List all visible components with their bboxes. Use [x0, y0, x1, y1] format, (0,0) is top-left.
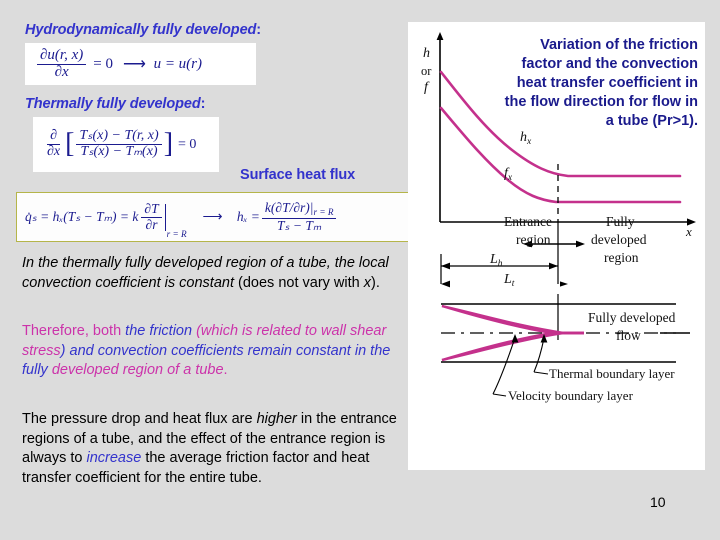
label-velocity-boundary-layer: Velocity boundary layer	[508, 388, 633, 404]
equation-3-rhs-lhs: hₓ =	[237, 209, 260, 225]
equation-3-rhs-den: Tₛ − Tₘ	[274, 219, 324, 233]
curve-h-x	[441, 72, 680, 176]
curve-f-x	[441, 108, 680, 202]
equation-3-dT: ∂T	[141, 202, 161, 217]
y-axis-label-or: or	[421, 64, 431, 79]
heading-2-colon: :	[201, 96, 206, 112]
equation-2-frac-num: Tₛ(x) − T(r, x)	[76, 129, 161, 145]
curve-label-hx: hx	[520, 130, 531, 147]
equation-surface-heat-flux-box: q̇ₛ = hₓ(Tₛ − Tₘ) = k ∂T ∂r r = R ⟶ hₓ =…	[16, 192, 449, 242]
label-Lt: Lt	[504, 272, 514, 289]
label-fully-developed-flow-line-2: flow	[616, 328, 641, 344]
heading-1-colon: :	[256, 22, 261, 38]
Lt-arrow-left-icon	[441, 281, 450, 288]
velocity-bl-arrow-icon	[512, 334, 519, 343]
label-entrance-line-2: region	[516, 232, 551, 248]
y-axis-arrow-icon	[437, 32, 444, 40]
label-Lh-base: L	[490, 252, 498, 267]
equation-1-arrow-icon: ⟶	[123, 54, 144, 74]
label-Lt-base: L	[504, 272, 512, 287]
velocity-bl-leader-tail	[493, 394, 506, 396]
paragraph-2-s6: developed region of a tube	[48, 362, 224, 378]
paragraph-pressure-drop-entrance: The pressure drop and heat flux are high…	[22, 410, 402, 488]
equation-2-right-bracket: ]	[164, 133, 173, 156]
paragraph-2-s4: ) and convection	[61, 343, 167, 359]
equation-2-frac-den: Tₛ(x) − Tₘ(x)	[78, 145, 161, 160]
equation-3-rhs-num-sub: r = R	[313, 207, 333, 217]
y-axis-label-f: f	[424, 80, 428, 96]
x-axis-label: x	[686, 224, 692, 240]
paragraph-1-part-2: (does not vary with	[234, 275, 364, 291]
heading-surface-heat-flux: Surface heat flux	[240, 167, 355, 183]
y-axis-label-h: h	[423, 46, 430, 62]
equation-hydrodynamic-box: ∂u(r, x) ∂x = 0 ⟶ u = u(r)	[25, 43, 256, 85]
equation-1-denominator: ∂x	[52, 65, 72, 81]
Lh-arrow-right-icon	[549, 263, 558, 270]
equation-2-denominator: ∂x	[44, 145, 63, 160]
paragraph-2-s1: Therefore, both	[22, 323, 125, 339]
heading-2-text: Thermally fully developed	[25, 96, 201, 112]
paragraph-2-s2: the friction	[125, 323, 192, 339]
curve-label-hx-base: h	[520, 130, 527, 145]
equation-2-outer-derivative: ∂ ∂x	[44, 129, 63, 159]
equation-2-numerator: ∂	[47, 129, 60, 145]
paragraph-friction-convection-constant: Therefore, both the friction (which is r…	[22, 322, 400, 381]
label-fully-line-1: Fully	[606, 214, 635, 230]
equation-3-arrow-icon: ⟶	[203, 209, 221, 226]
heading-1-text: Hydrodynamically fully developed	[25, 22, 256, 38]
equation-3-eval-bar-icon	[165, 204, 166, 231]
label-fully-developed-flow-line-1: Fully developed	[588, 310, 675, 326]
equation-2-left-bracket: [	[65, 133, 74, 156]
bl-upper-thermal	[442, 306, 584, 333]
Lt-arrow-right-icon	[560, 281, 568, 286]
label-Lh: Lh	[490, 252, 503, 269]
label-fully-line-3: region	[604, 250, 639, 266]
label-Lt-sub: t	[512, 279, 515, 289]
slide-root: Hydrodynamically fully developed: ∂u(r, …	[0, 0, 720, 540]
curve-label-fx-sub: x	[508, 173, 512, 183]
figure-panel: Variation of the friction factor and the…	[408, 22, 705, 470]
paragraph-2-s7: .	[224, 362, 228, 378]
equation-3-rhs-num-wrap: k(∂T/∂r)|r = R	[262, 201, 337, 218]
page-number: 10	[650, 494, 666, 510]
region-arrow-right-icon	[576, 241, 585, 248]
equation-3-rhs-fraction: k(∂T/∂r)|r = R Tₛ − Tₘ	[262, 201, 337, 233]
label-entrance-line-1: Entrance	[504, 214, 552, 230]
paragraph-1-part-3: x	[364, 275, 371, 291]
label-thermal-boundary-layer: Thermal boundary layer	[549, 366, 675, 382]
paragraph-3-p1: The pressure drop and heat flux are	[22, 411, 257, 427]
equation-1-numerator: ∂u(r, x)	[37, 48, 86, 65]
paragraph-1-part-4: ).	[371, 275, 380, 291]
equation-1-equals: = 0	[93, 56, 113, 73]
equation-3-dT-dr: ∂T ∂r	[141, 202, 161, 231]
equation-3-lhs: q̇ₛ = hₓ(Tₛ − Tₘ) = k	[25, 209, 138, 225]
label-Lh-sub: h	[498, 259, 503, 269]
label-fully-line-2: developed	[591, 232, 646, 248]
heading-hydrodynamically-fully-developed: Hydrodynamically fully developed:	[25, 22, 261, 38]
heading-3-text: Surface heat flux	[240, 167, 355, 183]
equation-3-rhs-num: k(∂T/∂r)|	[265, 200, 314, 215]
equation-3-eval-at: r = R	[167, 229, 187, 239]
equation-1-fraction: ∂u(r, x) ∂x	[37, 48, 86, 81]
thermal-bl-leader-line	[534, 338, 544, 372]
paragraph-3-p4: increase	[86, 450, 141, 466]
equation-thermal-box: ∂ ∂x [ Tₛ(x) − T(r, x) Tₛ(x) − Tₘ(x) ] =…	[33, 117, 219, 172]
equation-2-equals: = 0	[178, 137, 196, 153]
equation-2-inner-fraction: Tₛ(x) − T(r, x) Tₛ(x) − Tₘ(x)	[76, 129, 161, 159]
paragraph-fully-developed-region: In the thermally fully developed region …	[22, 254, 404, 293]
equation-3-dr: ∂r	[143, 218, 161, 232]
thermal-bl-leader-tail	[534, 372, 548, 374]
heading-thermally-fully-developed: Thermally fully developed:	[25, 96, 205, 112]
equation-1-result: u = u(r)	[154, 56, 202, 73]
curve-label-fx: fx	[504, 166, 512, 183]
paragraph-3-p2: higher	[257, 411, 297, 427]
Lh-arrow-left-icon	[441, 263, 450, 270]
left-content-column: Hydrodynamically fully developed: ∂u(r, …	[0, 0, 408, 540]
bl-lower-thermal	[442, 333, 584, 360]
curve-label-hx-sub: x	[527, 137, 531, 147]
